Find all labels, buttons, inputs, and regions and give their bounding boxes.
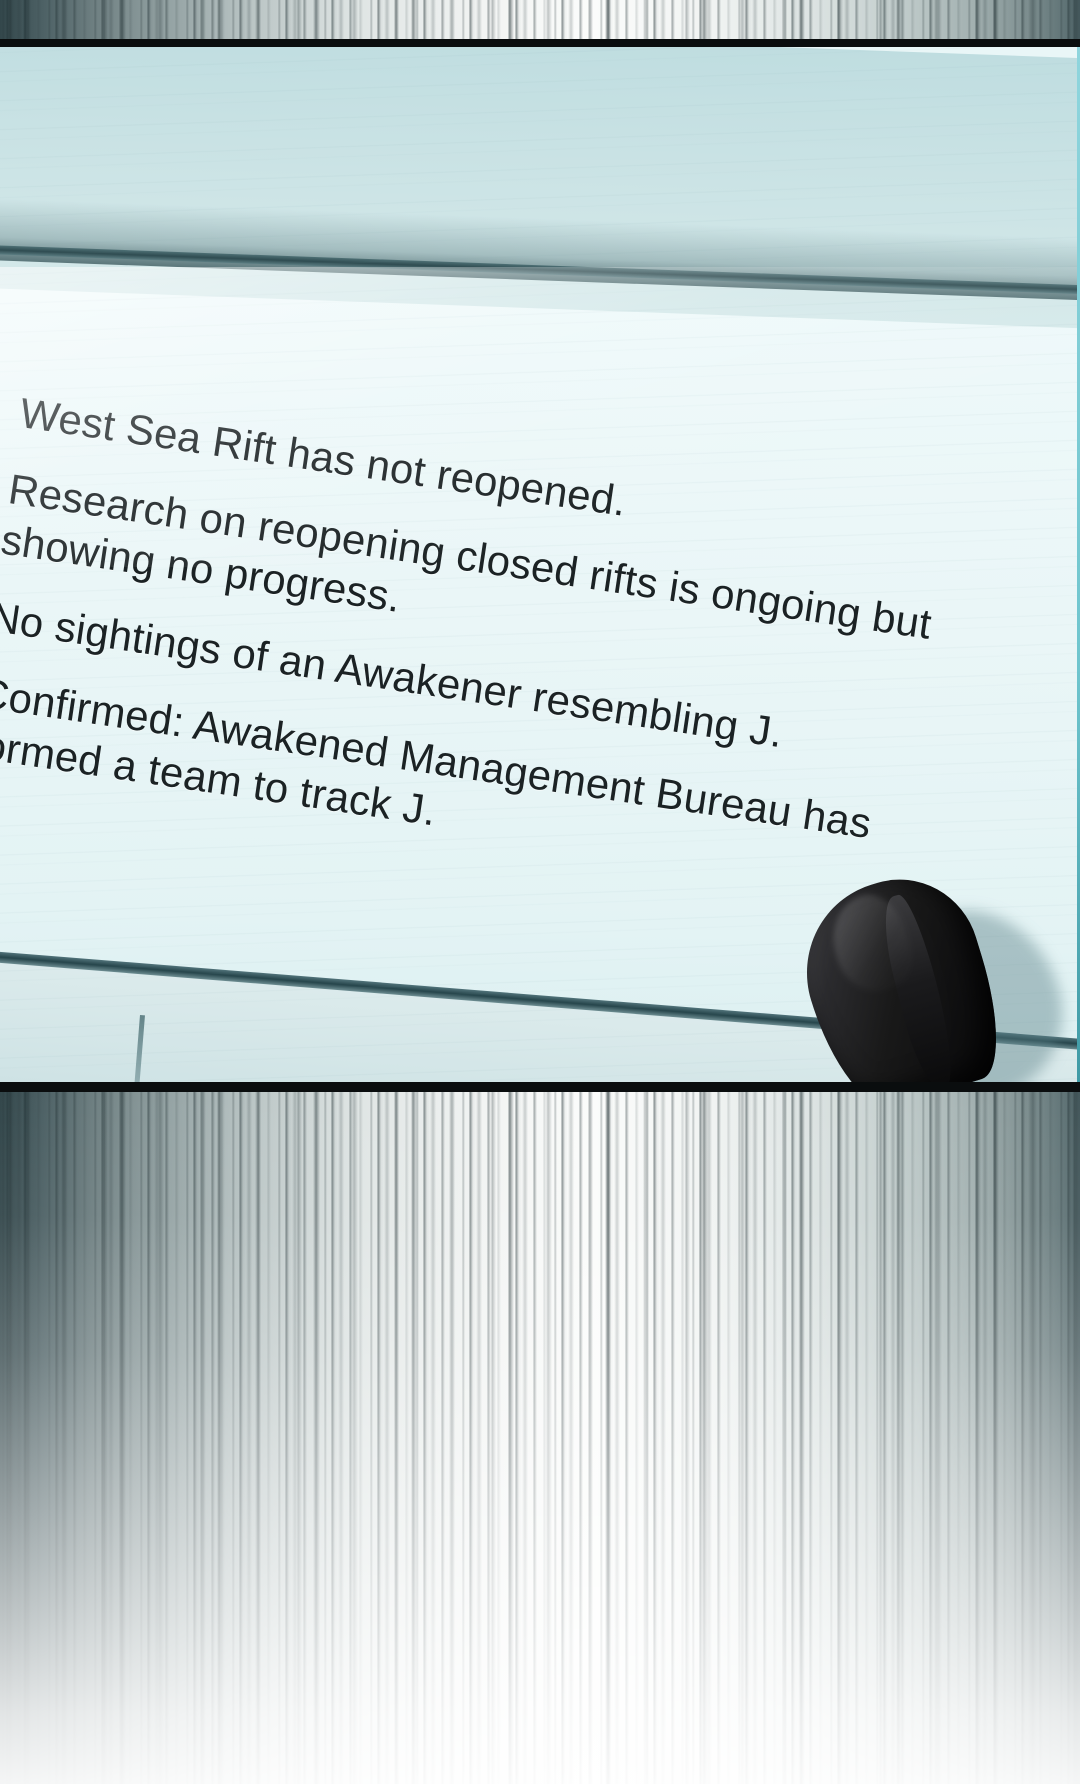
comic-page: West Sea Rift has not reopened. Research…	[0, 0, 1080, 1784]
top-motion-blur-backdrop	[0, 0, 1080, 42]
top-backdrop-stripes	[0, 0, 1080, 42]
panel-top-border	[0, 39, 1080, 47]
comic-panel-artwork: West Sea Rift has not reopened. Research…	[0, 47, 1080, 1082]
bottom-backdrop-white-fade	[0, 1090, 1080, 1784]
bottom-motion-blur-backdrop	[0, 1090, 1080, 1784]
panel-bottom-border	[0, 1082, 1080, 1092]
